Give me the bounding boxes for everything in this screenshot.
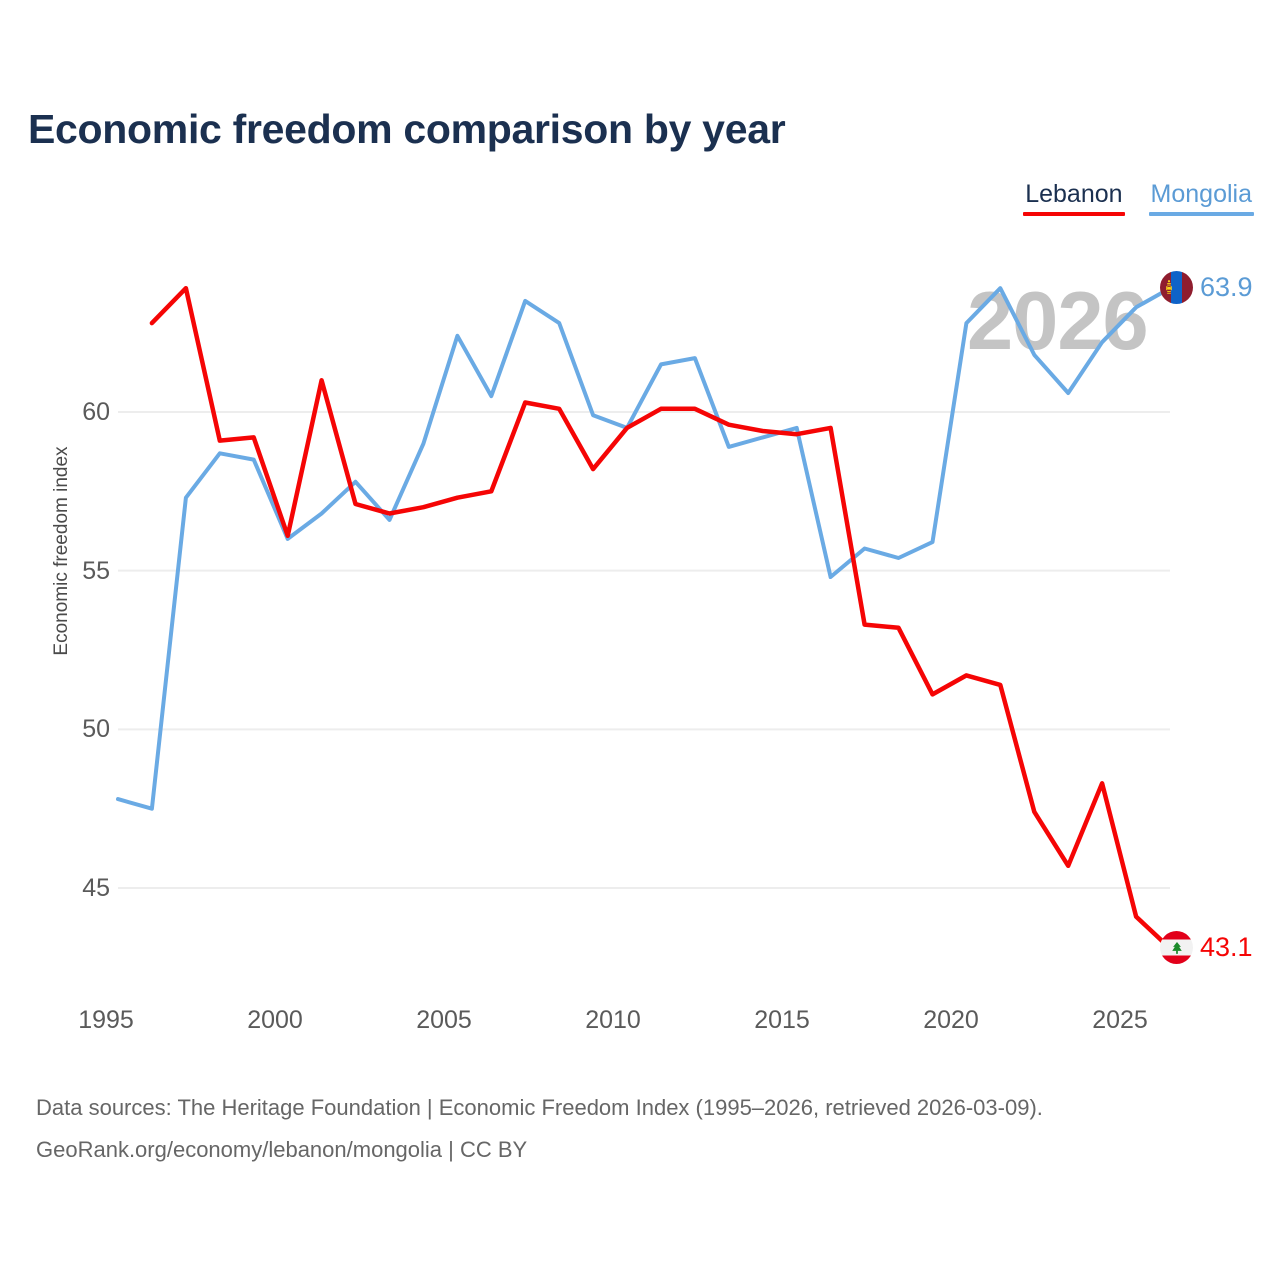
mongolia-flag-icon xyxy=(1160,271,1193,304)
lebanon-flag-icon xyxy=(1160,931,1193,964)
endpoint-value-mongolia: 63.9 xyxy=(1200,272,1253,303)
footer: Data sources: The Heritage Foundation | … xyxy=(36,1087,1043,1171)
legend: Lebanon Mongolia xyxy=(1023,180,1254,216)
legend-label-lebanon: Lebanon xyxy=(1023,180,1124,208)
endpoint-marker-mongolia[interactable]: 63.9 xyxy=(1160,271,1253,304)
legend-label-mongolia: Mongolia xyxy=(1149,180,1254,208)
soyombo-icon xyxy=(1165,279,1173,297)
plot-svg xyxy=(0,230,1280,1060)
chart-canvas: 2026 Economic freedom index 60 55 50 45 … xyxy=(0,230,1280,1060)
endpoint-value-lebanon: 43.1 xyxy=(1200,932,1253,963)
endpoint-marker-lebanon[interactable]: 43.1 xyxy=(1160,931,1253,964)
footer-line-sources: Data sources: The Heritage Foundation | … xyxy=(36,1087,1043,1129)
legend-swatch-lebanon xyxy=(1023,212,1124,216)
legend-item-mongolia[interactable]: Mongolia xyxy=(1149,180,1254,216)
series-line-lebanon xyxy=(152,288,1170,948)
footer-line-attribution: GeoRank.org/economy/lebanon/mongolia | C… xyxy=(36,1129,1043,1171)
legend-item-lebanon[interactable]: Lebanon xyxy=(1023,180,1124,216)
cedar-tree-icon xyxy=(1170,941,1183,954)
gridlines xyxy=(118,412,1170,888)
page-title: Economic freedom comparison by year xyxy=(28,106,785,153)
chart-page: Economic freedom comparison by year Leba… xyxy=(0,0,1280,1280)
legend-swatch-mongolia xyxy=(1149,212,1254,216)
